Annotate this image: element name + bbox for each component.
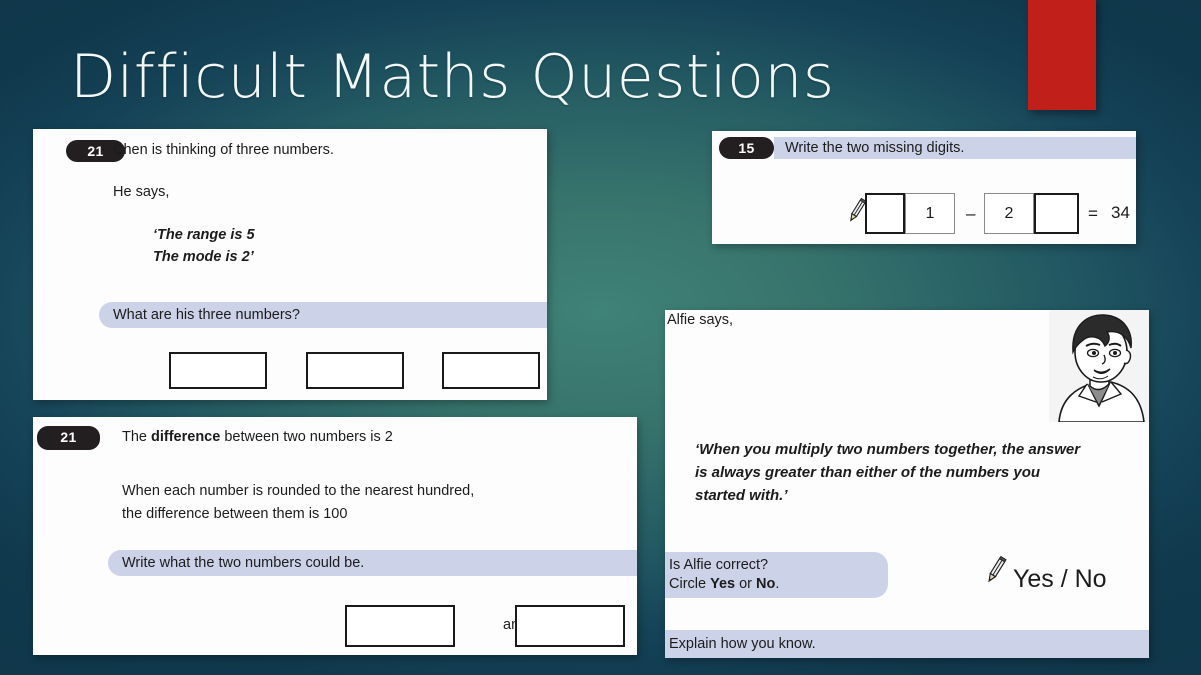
alfie-portrait: [1049, 310, 1149, 422]
quote-line-1: ‘The range is 5: [153, 227, 255, 243]
presentation-slide: Difficult Maths Questions 21 Chen is thi…: [0, 0, 1201, 675]
answer-box-tens-1[interactable]: [865, 193, 905, 234]
page-title: Difficult Maths Questions: [70, 42, 835, 112]
question-card-alfie: Alfie says,: [665, 310, 1149, 658]
alfie-prompt-yes: Yes: [710, 576, 735, 592]
quote-line-2: The mode is 2’: [153, 249, 254, 265]
alfie-portrait-drawing: [1049, 310, 1149, 422]
question-text-line2: When each number is rounded to the neare…: [122, 483, 474, 499]
question-card-missing-digits: 15 Write the two missing digits. 1 – 2 =…: [712, 131, 1136, 244]
pencil-icon: [847, 197, 867, 224]
expression-result: 34: [1111, 203, 1130, 223]
alfie-prompt-text: Is Alfie correct? Circle Yes or No.: [665, 556, 779, 594]
answer-box-3[interactable]: [442, 352, 540, 389]
alfie-quote-line-2: is always greater than either of the num…: [695, 461, 1115, 484]
alfie-quote-line-1: ‘When you multiply two numbers together,…: [695, 438, 1115, 461]
question-card-difference: 21 The difference between two numbers is…: [33, 417, 637, 655]
question-prompt-text: Write the two missing digits.: [774, 140, 964, 156]
digit-box-ones-1: 1: [905, 193, 955, 234]
question-text-line1-emphasis: difference: [151, 429, 220, 445]
question-prompt-text: What are his three numbers?: [99, 307, 300, 323]
answer-box-1[interactable]: [345, 605, 455, 647]
question-prompt-band: Write what the two numbers could be.: [108, 550, 637, 576]
yes-no-choice[interactable]: Yes / No: [1013, 565, 1107, 594]
alfie-prompt-line2-part1: Circle: [669, 576, 710, 592]
explain-band-text: Explain how you know.: [665, 636, 816, 652]
question-number-badge: 21: [37, 426, 100, 450]
alfie-prompt-or: or: [735, 576, 756, 592]
question-prompt-text: Write what the two numbers could be.: [108, 555, 364, 571]
explain-band: Explain how you know.: [665, 630, 1149, 658]
question-text-line1: The difference between two numbers is 2: [122, 429, 393, 445]
question-card-chen: 21 Chen is thinking of three numbers. He…: [33, 129, 547, 400]
pencil-icon: [985, 555, 1007, 585]
minus-operator: –: [966, 204, 975, 224]
question-text-line1-part1: The: [122, 429, 151, 445]
answer-box-2[interactable]: [306, 352, 404, 389]
answer-box-ones-2[interactable]: [1034, 193, 1079, 234]
answer-box-1[interactable]: [169, 352, 267, 389]
answer-box-2[interactable]: [515, 605, 625, 647]
red-accent-block: [1028, 0, 1096, 110]
digit-box-tens-2: 2: [984, 193, 1034, 234]
question-text-line3: the difference between them is 100: [122, 506, 347, 522]
question-text-line2: He says,: [113, 184, 169, 200]
alfie-prompt-period: .: [775, 576, 779, 592]
question-prompt-band: What are his three numbers?: [99, 302, 547, 328]
alfie-prompt-band: Is Alfie correct? Circle Yes or No.: [665, 552, 888, 598]
intro-text: Alfie says,: [667, 312, 733, 328]
alfie-prompt-no: No: [756, 576, 775, 592]
equals-operator: =: [1088, 204, 1098, 224]
question-text-line1-part2: between two numbers is 2: [220, 429, 392, 445]
question-text-line1: Chen is thinking of three numbers.: [113, 142, 334, 158]
alfie-quote-line-3: started with.’: [695, 484, 1115, 507]
question-number-badge: 15: [719, 137, 774, 159]
alfie-prompt-line1: Is Alfie correct?: [669, 557, 768, 573]
question-prompt-band: Write the two missing digits.: [774, 137, 1136, 159]
